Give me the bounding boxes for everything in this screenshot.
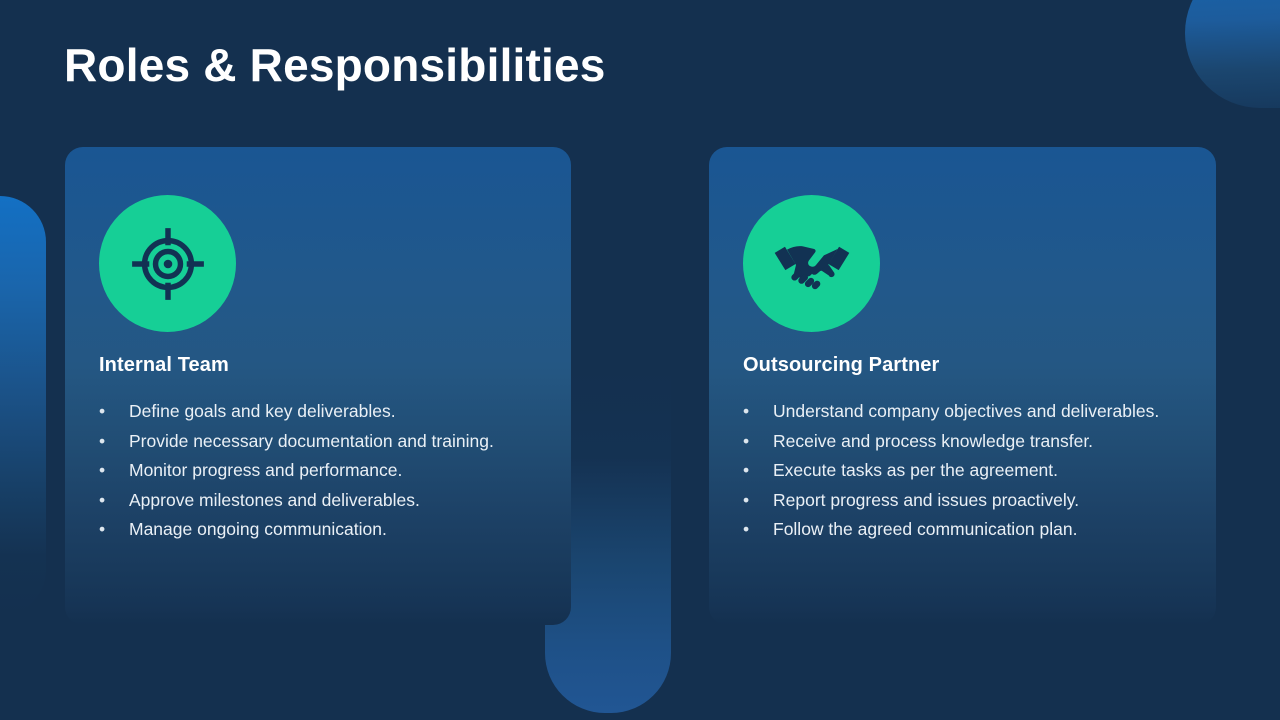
- list-item: • Follow the agreed communication plan.: [740, 515, 1194, 544]
- target-icon: [129, 225, 207, 303]
- list-item-text: Manage ongoing communication.: [129, 519, 387, 539]
- list-item: • Monitor progress and performance.: [96, 456, 549, 485]
- bullet-glyph: •: [743, 397, 749, 426]
- responsibility-list: • Understand company objectives and deli…: [740, 397, 1194, 545]
- list-item-text: Approve milestones and deliverables.: [129, 490, 420, 510]
- list-item-text: Follow the agreed communication plan.: [773, 519, 1077, 539]
- icon-badge: [99, 195, 236, 332]
- role-card-outsourcing-partner: Outsourcing Partner • Understand company…: [709, 147, 1216, 625]
- list-item: • Provide necessary documentation and tr…: [96, 427, 549, 456]
- list-item-text: Receive and process knowledge transfer.: [773, 431, 1093, 451]
- list-item: • Approve milestones and deliverables.: [96, 486, 549, 515]
- list-item-text: Monitor progress and performance.: [129, 460, 402, 480]
- handshake-icon: [771, 223, 853, 305]
- card-title: Internal Team: [99, 354, 229, 377]
- bullet-glyph: •: [99, 486, 105, 515]
- icon-badge: [743, 195, 880, 332]
- bullet-glyph: •: [99, 515, 105, 544]
- decor-shape-left: [0, 196, 46, 616]
- bullet-glyph: •: [99, 397, 105, 426]
- bullet-glyph: •: [743, 515, 749, 544]
- responsibility-list: • Define goals and key deliverables. • P…: [96, 397, 549, 545]
- bullet-glyph: •: [99, 427, 105, 456]
- list-item-text: Understand company objectives and delive…: [773, 401, 1159, 421]
- decor-shape-top-right: [1185, 0, 1280, 108]
- list-item-text: Define goals and key deliverables.: [129, 401, 396, 421]
- bullet-glyph: •: [743, 486, 749, 515]
- list-item-text: Provide necessary documentation and trai…: [129, 431, 494, 451]
- page-title: Roles & Responsibilities: [64, 40, 606, 91]
- bullet-glyph: •: [743, 456, 749, 485]
- list-item: • Understand company objectives and deli…: [740, 397, 1194, 426]
- list-item: • Receive and process knowledge transfer…: [740, 427, 1194, 456]
- list-item-text: Report progress and issues proactively.: [773, 490, 1079, 510]
- card-title: Outsourcing Partner: [743, 354, 939, 377]
- list-item-text: Execute tasks as per the agreement.: [773, 460, 1058, 480]
- role-card-internal-team: Internal Team • Define goals and key del…: [65, 147, 571, 625]
- list-item: • Report progress and issues proactively…: [740, 486, 1194, 515]
- list-item: • Define goals and key deliverables.: [96, 397, 549, 426]
- bullet-glyph: •: [743, 427, 749, 456]
- list-item: • Manage ongoing communication.: [96, 515, 549, 544]
- list-item: • Execute tasks as per the agreement.: [740, 456, 1194, 485]
- bullet-glyph: •: [99, 456, 105, 485]
